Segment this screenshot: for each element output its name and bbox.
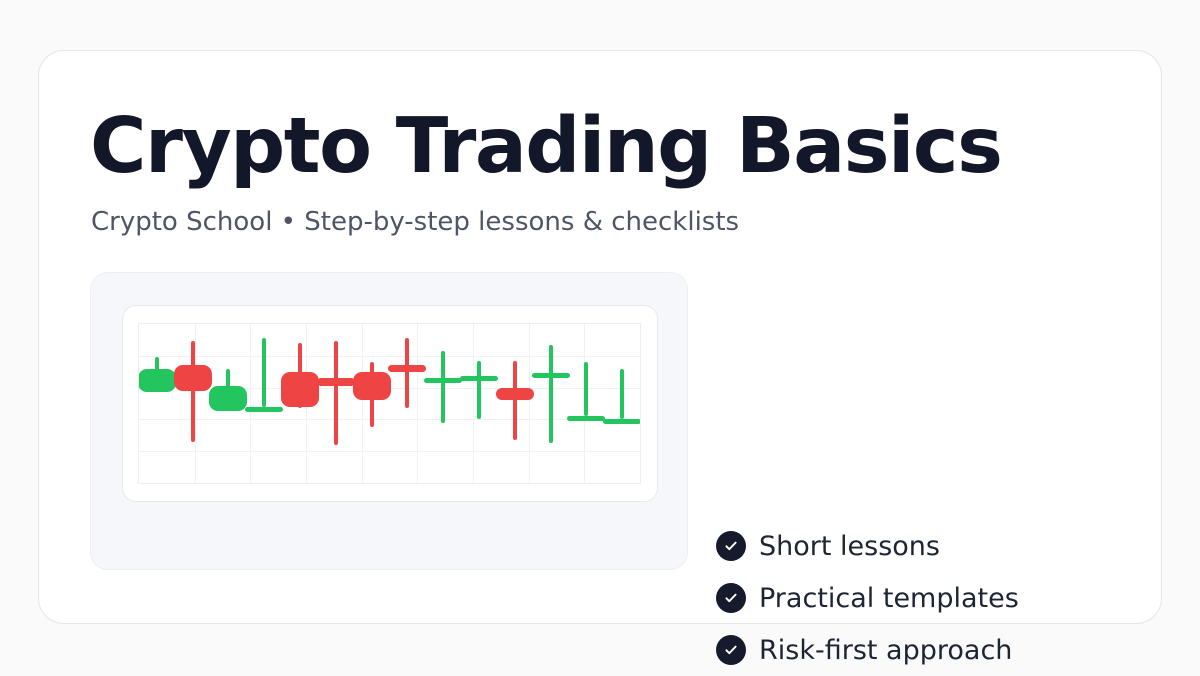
candle-wick bbox=[191, 341, 195, 441]
candle-body bbox=[245, 407, 283, 412]
candle-13 bbox=[567, 324, 605, 483]
candle-4 bbox=[245, 324, 283, 483]
candle-wick bbox=[441, 351, 445, 423]
candle-wick bbox=[405, 338, 409, 408]
candle-6 bbox=[317, 324, 355, 483]
candle-body bbox=[353, 372, 391, 401]
check-circle-icon bbox=[716, 635, 746, 665]
candle-wick bbox=[549, 345, 553, 444]
candle-5 bbox=[281, 324, 319, 483]
candle-wick bbox=[620, 369, 624, 420]
candle-body bbox=[532, 373, 570, 378]
feature-label: Risk-first approach bbox=[759, 635, 1012, 666]
candle-body bbox=[460, 376, 498, 381]
candle-7 bbox=[353, 324, 391, 483]
candle-2 bbox=[174, 324, 212, 483]
candle-11 bbox=[496, 324, 534, 483]
candle-body bbox=[209, 386, 247, 411]
candlestick-chart[interactable] bbox=[138, 323, 641, 484]
candle-9 bbox=[424, 324, 462, 483]
candle-body bbox=[281, 372, 319, 407]
candle-8 bbox=[388, 324, 426, 483]
list-item[interactable]: Risk-first approach bbox=[716, 624, 1019, 676]
candle-body bbox=[138, 369, 176, 393]
list-item[interactable]: Short lessons bbox=[716, 520, 1019, 572]
page-title: Crypto Trading Basics bbox=[90, 108, 1001, 185]
candle-14 bbox=[603, 324, 641, 483]
candle-1 bbox=[138, 324, 176, 483]
candle-body bbox=[603, 419, 641, 424]
candle-3 bbox=[209, 324, 247, 483]
candle-body bbox=[424, 378, 462, 383]
check-circle-icon bbox=[716, 583, 746, 613]
candle-wick bbox=[513, 361, 517, 441]
candle-10 bbox=[460, 324, 498, 483]
candle-wick bbox=[262, 338, 266, 406]
check-circle-icon bbox=[716, 531, 746, 561]
screen: Crypto Trading Basics Crypto School • St… bbox=[0, 0, 1200, 675]
candle-body bbox=[496, 388, 534, 401]
candle-wick bbox=[334, 341, 338, 444]
feature-label: Practical templates bbox=[759, 583, 1019, 614]
candle-body bbox=[388, 365, 426, 371]
candle-body bbox=[317, 378, 355, 386]
list-item[interactable]: Practical templates bbox=[716, 572, 1019, 624]
candle-12 bbox=[532, 324, 570, 483]
candle-body bbox=[174, 365, 212, 390]
candle-series bbox=[139, 324, 640, 483]
page-subtitle: Crypto School • Step-by-step lessons & c… bbox=[91, 207, 739, 238]
candle-body bbox=[567, 416, 605, 421]
feature-list: Short lessons Practical templates Risk-f… bbox=[716, 520, 1019, 676]
candle-wick bbox=[584, 362, 588, 416]
feature-label: Short lessons bbox=[759, 531, 940, 562]
candle-wick bbox=[477, 361, 481, 420]
